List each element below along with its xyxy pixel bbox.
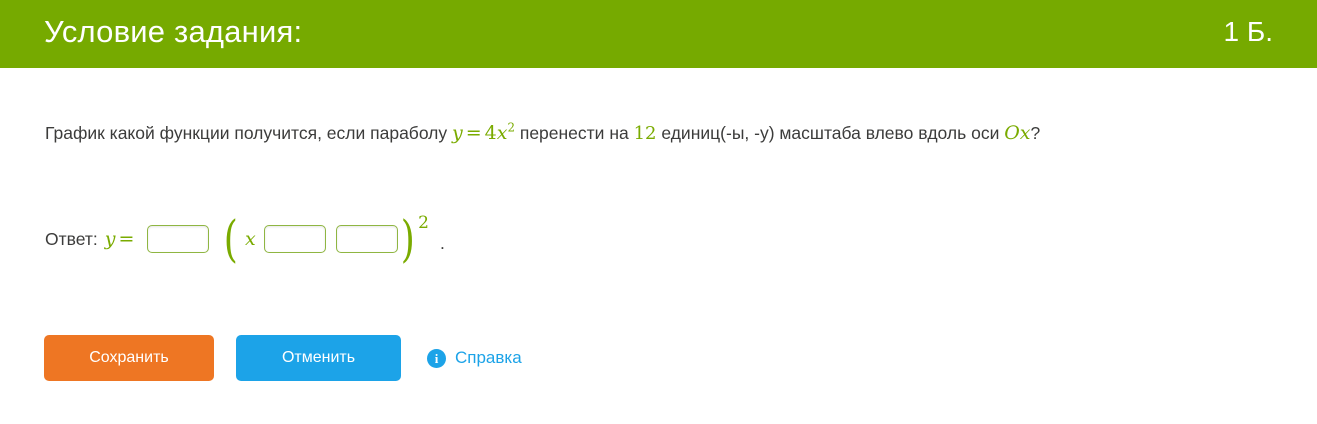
question-part-1: График какой функции получится, если пар… (45, 123, 452, 143)
math-ox-axis: Ox (1004, 122, 1030, 144)
task-header-bar: Условие задания: 1 Б. (0, 0, 1317, 68)
math-parabola-equation: y=4x2 (452, 122, 515, 144)
help-link[interactable]: i Справка (427, 348, 522, 368)
answer-input-coefficient[interactable] (147, 225, 209, 253)
math-equals-sign: = (463, 122, 485, 144)
answer-row: Ответ: y= ( x ) 2 . (45, 221, 445, 257)
page-title: Условие задания: (44, 14, 302, 50)
answer-parenthesized-group: ( x ) 2 (221, 221, 428, 257)
action-button-row: Сохранить Отменить i Справка (44, 335, 522, 381)
save-button[interactable]: Сохранить (44, 335, 214, 381)
answer-input-sign[interactable] (264, 225, 326, 253)
question-text: График какой функции получится, если пар… (45, 118, 1275, 149)
answer-label: Ответ: (45, 229, 98, 250)
answer-equals-sign: = (116, 228, 138, 250)
answer-period: . (440, 233, 445, 254)
answer-input-shift[interactable] (336, 225, 398, 253)
math-y-symbol: y (452, 122, 463, 144)
math-coefficient: 4 (485, 122, 497, 144)
question-part-3: единиц(-ы, -у) масштаба влево вдоль оси (657, 123, 1005, 143)
answer-exponent: 2 (418, 213, 429, 233)
info-icon: i (427, 349, 446, 368)
math-exponent: 2 (507, 121, 515, 135)
cancel-button[interactable]: Отменить (236, 335, 401, 381)
close-paren: ) (400, 221, 414, 257)
points-badge: 1 Б. (1223, 16, 1273, 48)
task-body: График какой функции получится, если пар… (0, 68, 1317, 424)
answer-y-symbol: y (105, 228, 116, 250)
math-x-symbol: x (497, 122, 508, 144)
question-part-2: перенести на (515, 123, 634, 143)
question-part-4: ? (1031, 123, 1041, 143)
shift-units-value: 12 (634, 123, 657, 144)
help-link-label: Справка (455, 348, 522, 368)
open-paren: ( (224, 221, 238, 257)
answer-y-equals: y= (105, 228, 138, 250)
answer-x-symbol: x (245, 228, 256, 250)
